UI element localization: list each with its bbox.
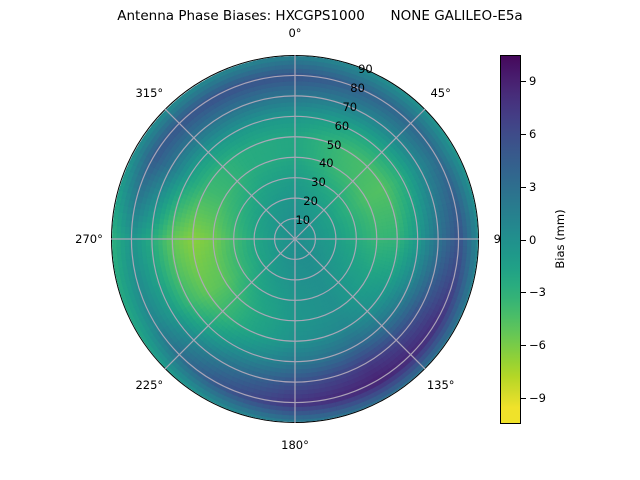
radial-tick-label: 50 bbox=[327, 138, 342, 152]
colorbar-tick-label: 3 bbox=[529, 180, 536, 194]
figure-canvas: Antenna Phase Biases: HXCGPS1000 NONE GA… bbox=[0, 0, 640, 480]
colorbar-axis-label: Bias (mm) bbox=[553, 209, 567, 268]
radial-tick-label: 80 bbox=[350, 81, 365, 95]
colorbar-tick-label: 9 bbox=[529, 74, 536, 88]
colorbar-tick-label: 6 bbox=[529, 127, 536, 141]
colorbar-tick-label: −6 bbox=[529, 338, 546, 352]
radial-tick-label: 30 bbox=[311, 175, 326, 189]
radial-tick-label: 10 bbox=[295, 213, 310, 227]
colorbar-tick-label: −3 bbox=[529, 285, 546, 299]
colorbar: 9630−3−6−9 bbox=[500, 55, 521, 424]
colorbar-tick-mark bbox=[521, 398, 526, 399]
colorbar-tick-mark bbox=[521, 292, 526, 293]
angular-tick-label: 135° bbox=[427, 378, 455, 392]
radial-tick-label: 70 bbox=[342, 100, 357, 114]
angular-tick-label: 225° bbox=[135, 378, 163, 392]
angular-tick-label: 315° bbox=[135, 86, 163, 100]
angular-tick-label: 45° bbox=[430, 86, 450, 100]
angular-tick-label: 180° bbox=[281, 438, 309, 452]
angular-tick-label: 270° bbox=[75, 232, 103, 246]
angular-tick-label: 0° bbox=[288, 26, 301, 40]
colorbar-tick-label: 0 bbox=[529, 233, 536, 247]
polar-heatmap-svg bbox=[112, 56, 479, 423]
colorbar-tick-mark bbox=[521, 240, 526, 241]
polar-data-disc bbox=[111, 55, 479, 423]
figure-title: Antenna Phase Biases: HXCGPS1000 NONE GA… bbox=[0, 8, 640, 24]
colorbar-tick-mark bbox=[521, 345, 526, 346]
radial-tick-label: 90 bbox=[358, 62, 373, 76]
radial-tick-label: 20 bbox=[303, 194, 318, 208]
polar-axes bbox=[111, 55, 479, 423]
colorbar-gradient bbox=[500, 55, 521, 424]
colorbar-tick-mark bbox=[521, 134, 526, 135]
colorbar-tick-mark bbox=[521, 81, 526, 82]
colorbar-tick-label: −9 bbox=[529, 391, 546, 405]
radial-tick-label: 40 bbox=[319, 156, 334, 170]
radial-tick-label: 60 bbox=[335, 119, 350, 133]
colorbar-tick-mark bbox=[521, 187, 526, 188]
